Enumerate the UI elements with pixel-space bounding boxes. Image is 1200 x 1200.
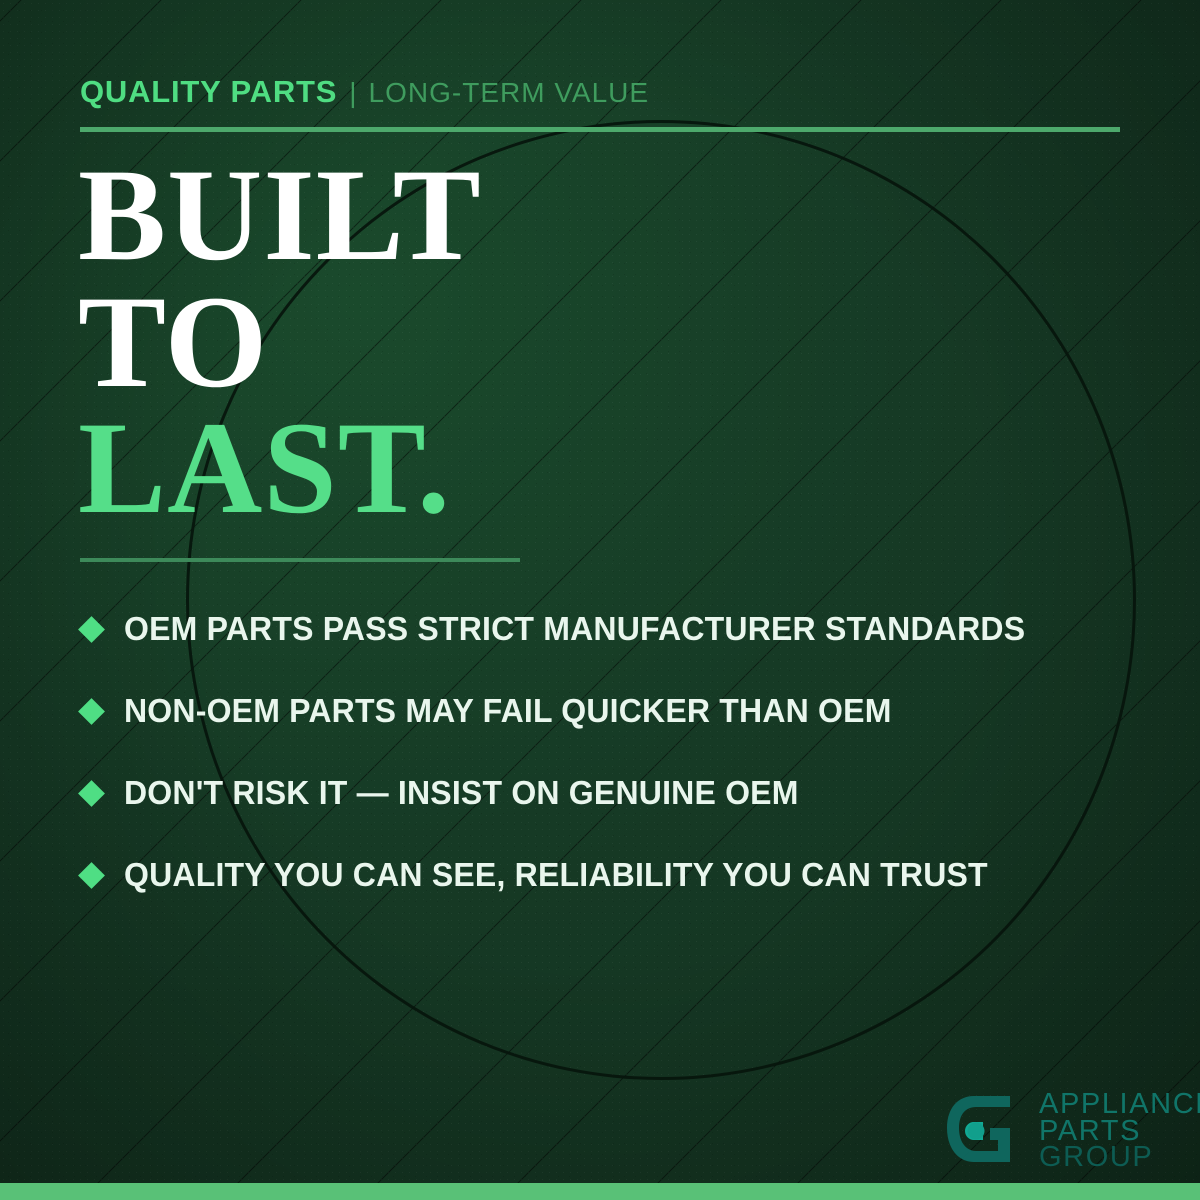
brand-logo-line-3: GROUP xyxy=(1039,1144,1200,1171)
bottom-accent-bar xyxy=(0,1183,1200,1200)
headline-divider-rule xyxy=(80,558,520,562)
brand-logo-line-2: PARTS xyxy=(1039,1118,1200,1145)
headline-line-2: TO xyxy=(78,279,482,406)
list-item: QUALITY YOU CAN SEE, RELIABILITY YOU CAN… xyxy=(80,834,1150,916)
headline-line-3: LAST. xyxy=(78,405,482,532)
eyebrow-separator: | xyxy=(349,77,356,109)
list-item-label: DON'T RISK IT — INSIST ON GENUINE OEM xyxy=(124,774,799,812)
promo-poster: QUALITY PARTS | LONG-TERM VALUE BUILT TO… xyxy=(0,0,1200,1200)
benefits-list: OEM PARTS PASS STRICT MANUFACTURER STAND… xyxy=(80,588,1150,916)
eyebrow-subtitle: LONG-TERM VALUE xyxy=(369,77,650,109)
header-divider-rule xyxy=(80,127,1120,132)
list-item: OEM PARTS PASS STRICT MANUFACTURER STAND… xyxy=(80,588,1150,670)
diamond-bullet-icon xyxy=(78,616,105,643)
list-item-label: QUALITY YOU CAN SEE, RELIABILITY YOU CAN… xyxy=(124,856,988,894)
brand-logo-line-1: APPLIANCE xyxy=(1039,1091,1200,1118)
brand-logo: APPLIANCE PARTS GROUP xyxy=(940,1088,1200,1174)
list-item: NON-OEM PARTS MAY FAIL QUICKER THAN OEM xyxy=(80,670,1150,752)
list-item-label: NON-OEM PARTS MAY FAIL QUICKER THAN OEM xyxy=(124,692,892,730)
eyebrow-title: QUALITY PARTS xyxy=(80,74,337,110)
brand-logo-wordmark: APPLIANCE PARTS GROUP xyxy=(1039,1091,1200,1172)
eyebrow-header: QUALITY PARTS | LONG-TERM VALUE xyxy=(80,74,649,110)
headline-line-1: BUILT xyxy=(78,152,482,279)
diamond-bullet-icon xyxy=(78,698,105,725)
poster-content: QUALITY PARTS | LONG-TERM VALUE BUILT TO… xyxy=(0,0,1200,1200)
diamond-bullet-icon xyxy=(78,862,105,889)
page-title: BUILT TO LAST. xyxy=(78,152,482,532)
diamond-bullet-icon xyxy=(78,780,105,807)
g-monogram-icon xyxy=(940,1088,1026,1174)
list-item-label: OEM PARTS PASS STRICT MANUFACTURER STAND… xyxy=(124,610,1025,648)
list-item: DON'T RISK IT — INSIST ON GENUINE OEM xyxy=(80,752,1150,834)
